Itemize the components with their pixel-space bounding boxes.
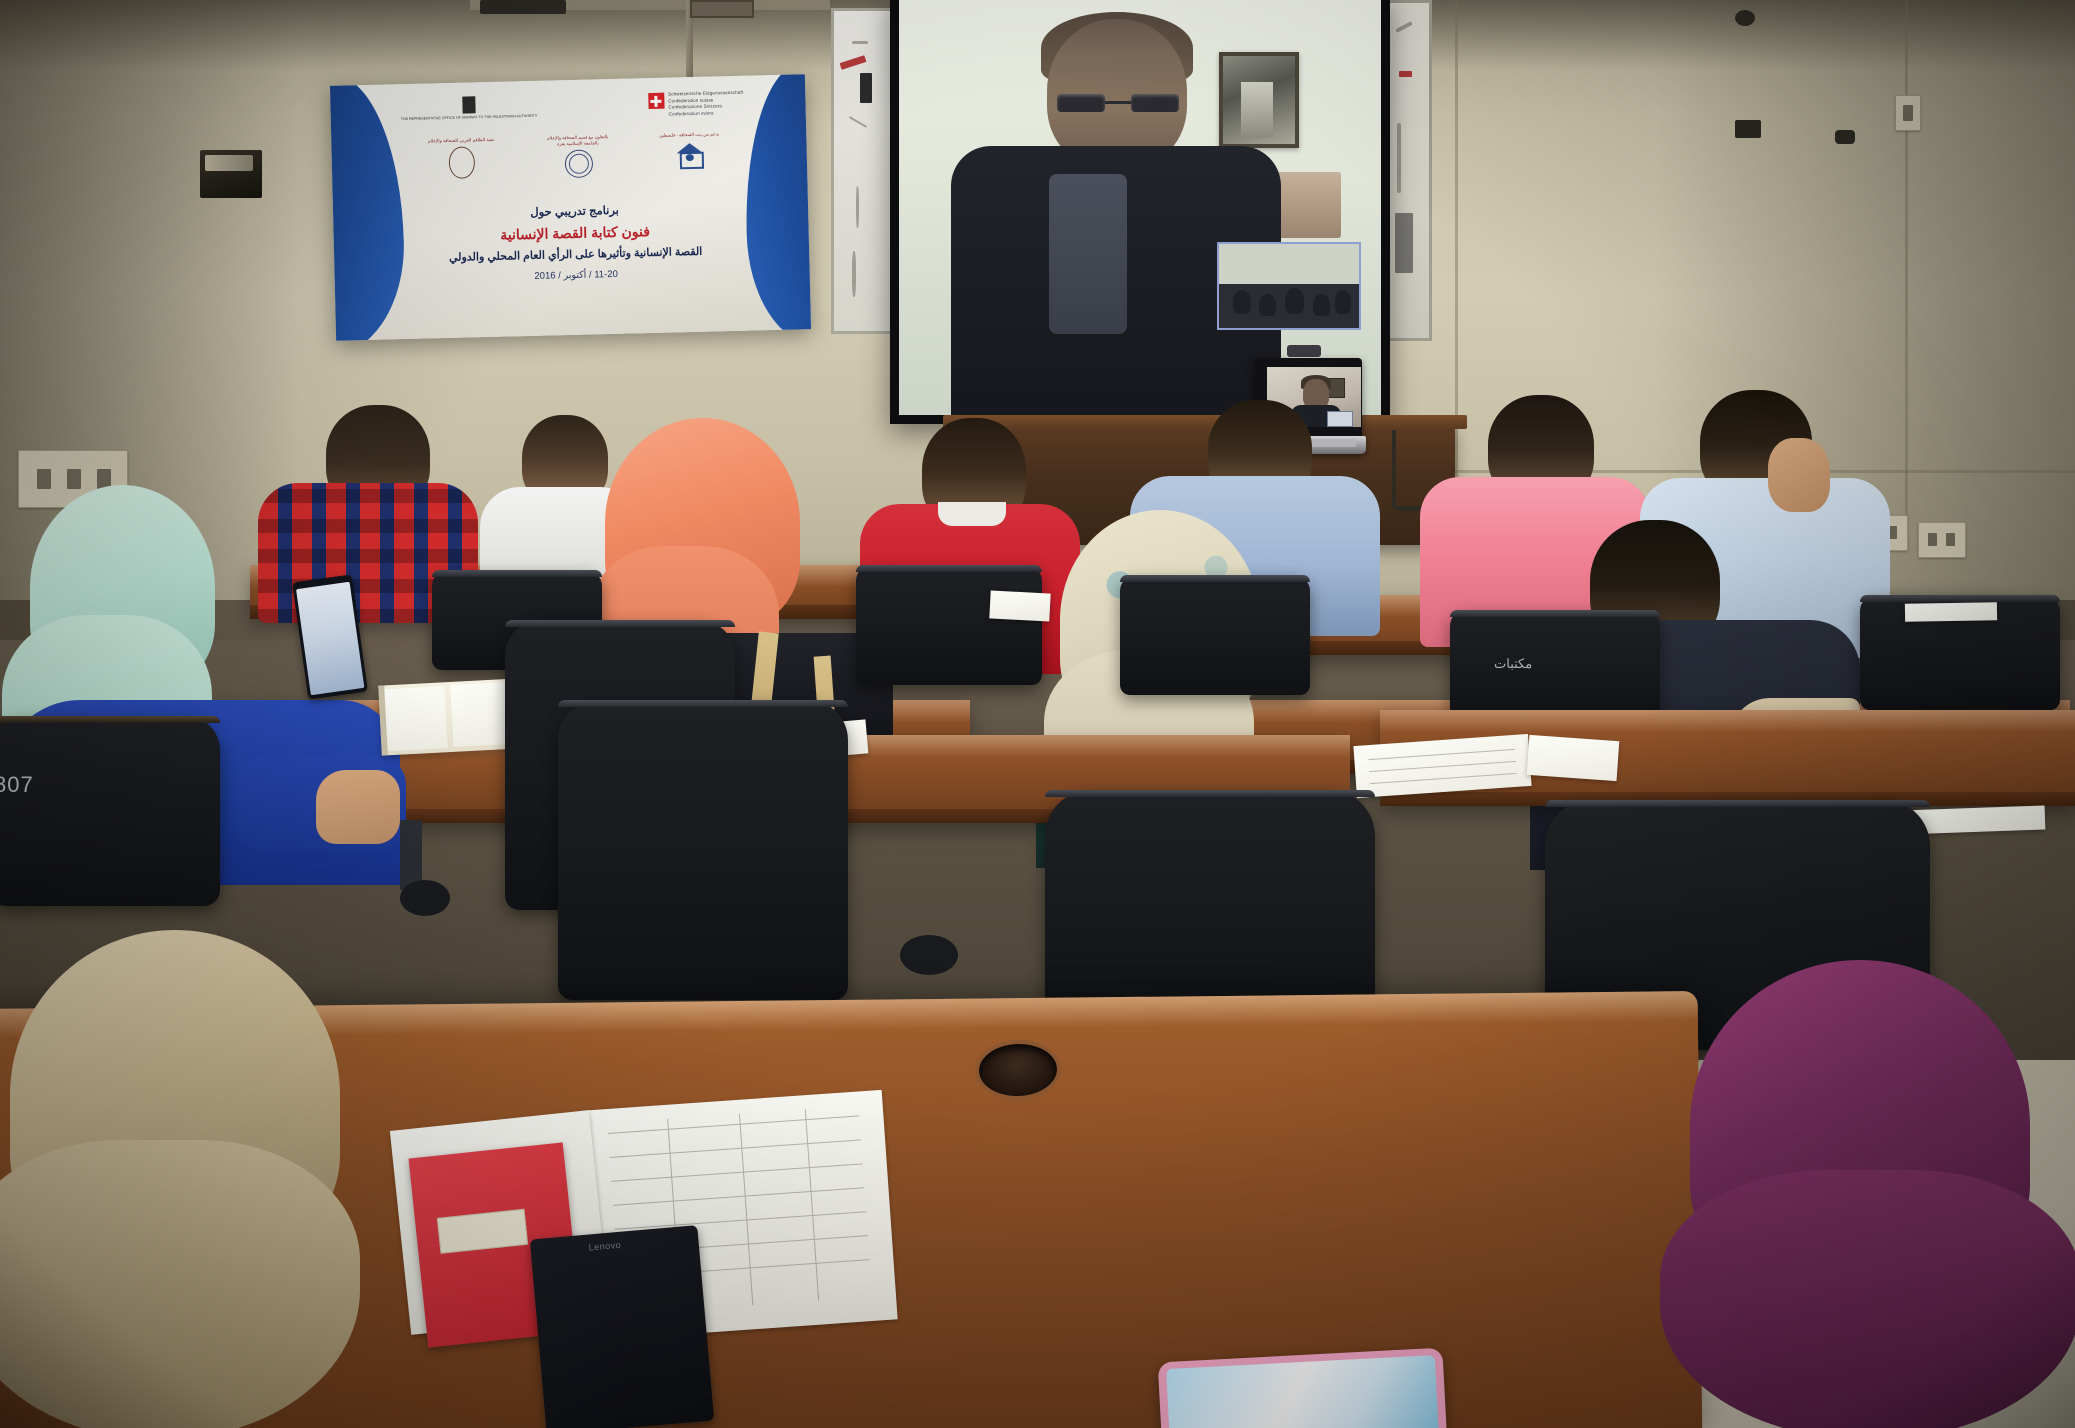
hand-on-face xyxy=(1768,438,1830,512)
banner-headline-small: برنامج تدريبي حول xyxy=(403,200,746,222)
chair-mid-right-marking: مكتبات xyxy=(1494,656,1532,672)
event-banner: THE REPRESENTATIVE OFFICE OF NORWAY TO T… xyxy=(330,74,811,341)
picture-in-picture-audience xyxy=(1217,242,1361,330)
wall-switch-plate[interactable] xyxy=(1895,95,1921,131)
phone-brand-text: Lenovo xyxy=(588,1240,621,1253)
chair-mid-left[interactable] xyxy=(856,565,1042,685)
crest-icon xyxy=(462,96,475,113)
whiteboard-left-edge xyxy=(831,8,899,334)
press-house-logo-icon xyxy=(676,141,703,168)
support-line: بدعم من بيت الصحافة - فلسطين xyxy=(634,130,744,139)
student-purple-hijab-foreground xyxy=(1630,960,2075,1428)
loose-paper-mid xyxy=(989,590,1050,621)
chair-wheel-2 xyxy=(900,935,958,975)
open-notebook xyxy=(378,678,521,755)
polo-collar xyxy=(938,502,1006,526)
red-notebook-label xyxy=(437,1209,528,1254)
chair-front-left[interactable]: 807 xyxy=(0,716,220,906)
chair-wheel xyxy=(400,880,450,916)
loose-paper-right xyxy=(1527,735,1620,781)
chair-mid-center[interactable] xyxy=(1120,575,1310,695)
purple-hijab-drape xyxy=(1660,1170,2075,1428)
wall-mounted-camera xyxy=(1735,120,1761,138)
student-tan-hijab-foreground xyxy=(0,930,420,1428)
chair-front-left-marking: 807 xyxy=(0,772,34,798)
remote-speaker-shirt xyxy=(1049,174,1127,334)
projector-mount-box xyxy=(480,0,566,14)
banner-swoosh-left xyxy=(330,74,407,341)
swiss-line-4: Confederaziun svizra xyxy=(668,110,743,118)
laptop-power-cable xyxy=(1392,430,1396,508)
tan-hijab-drape xyxy=(0,1140,360,1428)
conference-camera xyxy=(1287,345,1321,357)
banner-date: 11-20 / أكتوبر / 2016 xyxy=(405,266,748,285)
banner-partner-row: تنفيذ الطاقم العربي للصحافة والإعلام بال… xyxy=(401,130,745,182)
banner-headline-red: فنون كتابة القصة الإنسانية xyxy=(403,221,746,246)
implementer-seal-icon xyxy=(448,146,475,179)
wall-object-left-strip xyxy=(205,155,253,171)
wall-mounted-sensor xyxy=(1835,130,1855,144)
remote-speaker-glasses-icon xyxy=(1057,94,1179,112)
chair-front-third[interactable] xyxy=(558,700,848,1000)
wall-seam-vertical-2 xyxy=(1905,0,1908,520)
wall-vent xyxy=(690,0,754,18)
pa-office-caption: THE REPRESENTATIVE OFFICE OF NORWAY TO T… xyxy=(401,114,538,122)
swiss-flag-icon xyxy=(648,93,664,109)
loose-paper-far-right-2 xyxy=(1905,602,1997,622)
wall-socket-right-2[interactable] xyxy=(1918,522,1966,558)
swiss-confederation-logo: Schweizerische Eidgenossenschaft Confédé… xyxy=(648,90,744,119)
implementer-line: تنفيذ الطاقم العربي للصحافة والإعلام xyxy=(401,136,521,145)
university-seal-icon xyxy=(564,149,593,178)
banner-swoosh-right xyxy=(743,74,811,341)
classroom-scene: THE REPRESENTATIVE OFFICE OF NORWAY TO T… xyxy=(0,0,2075,1428)
ceiling-speaker xyxy=(1735,10,1755,26)
hand xyxy=(316,770,400,844)
lenovo-phone-face-down[interactable]: Lenovo xyxy=(530,1225,714,1428)
banner-logo-row: THE REPRESENTATIVE OFFICE OF NORWAY TO T… xyxy=(400,82,744,125)
chair-mid-right[interactable]: مكتبات xyxy=(1450,610,1660,720)
pa-office-logo: THE REPRESENTATIVE OFFICE OF NORWAY TO T… xyxy=(400,95,537,122)
pink-cased-phone[interactable] xyxy=(1158,1348,1448,1428)
remote-framed-picture xyxy=(1219,52,1299,148)
banner-subtitle: القصة الإنسانية وتأثيرها على الرأي العام… xyxy=(404,244,747,265)
partner-line-2: بالجامعة الإسلامية بغزة xyxy=(523,139,633,148)
